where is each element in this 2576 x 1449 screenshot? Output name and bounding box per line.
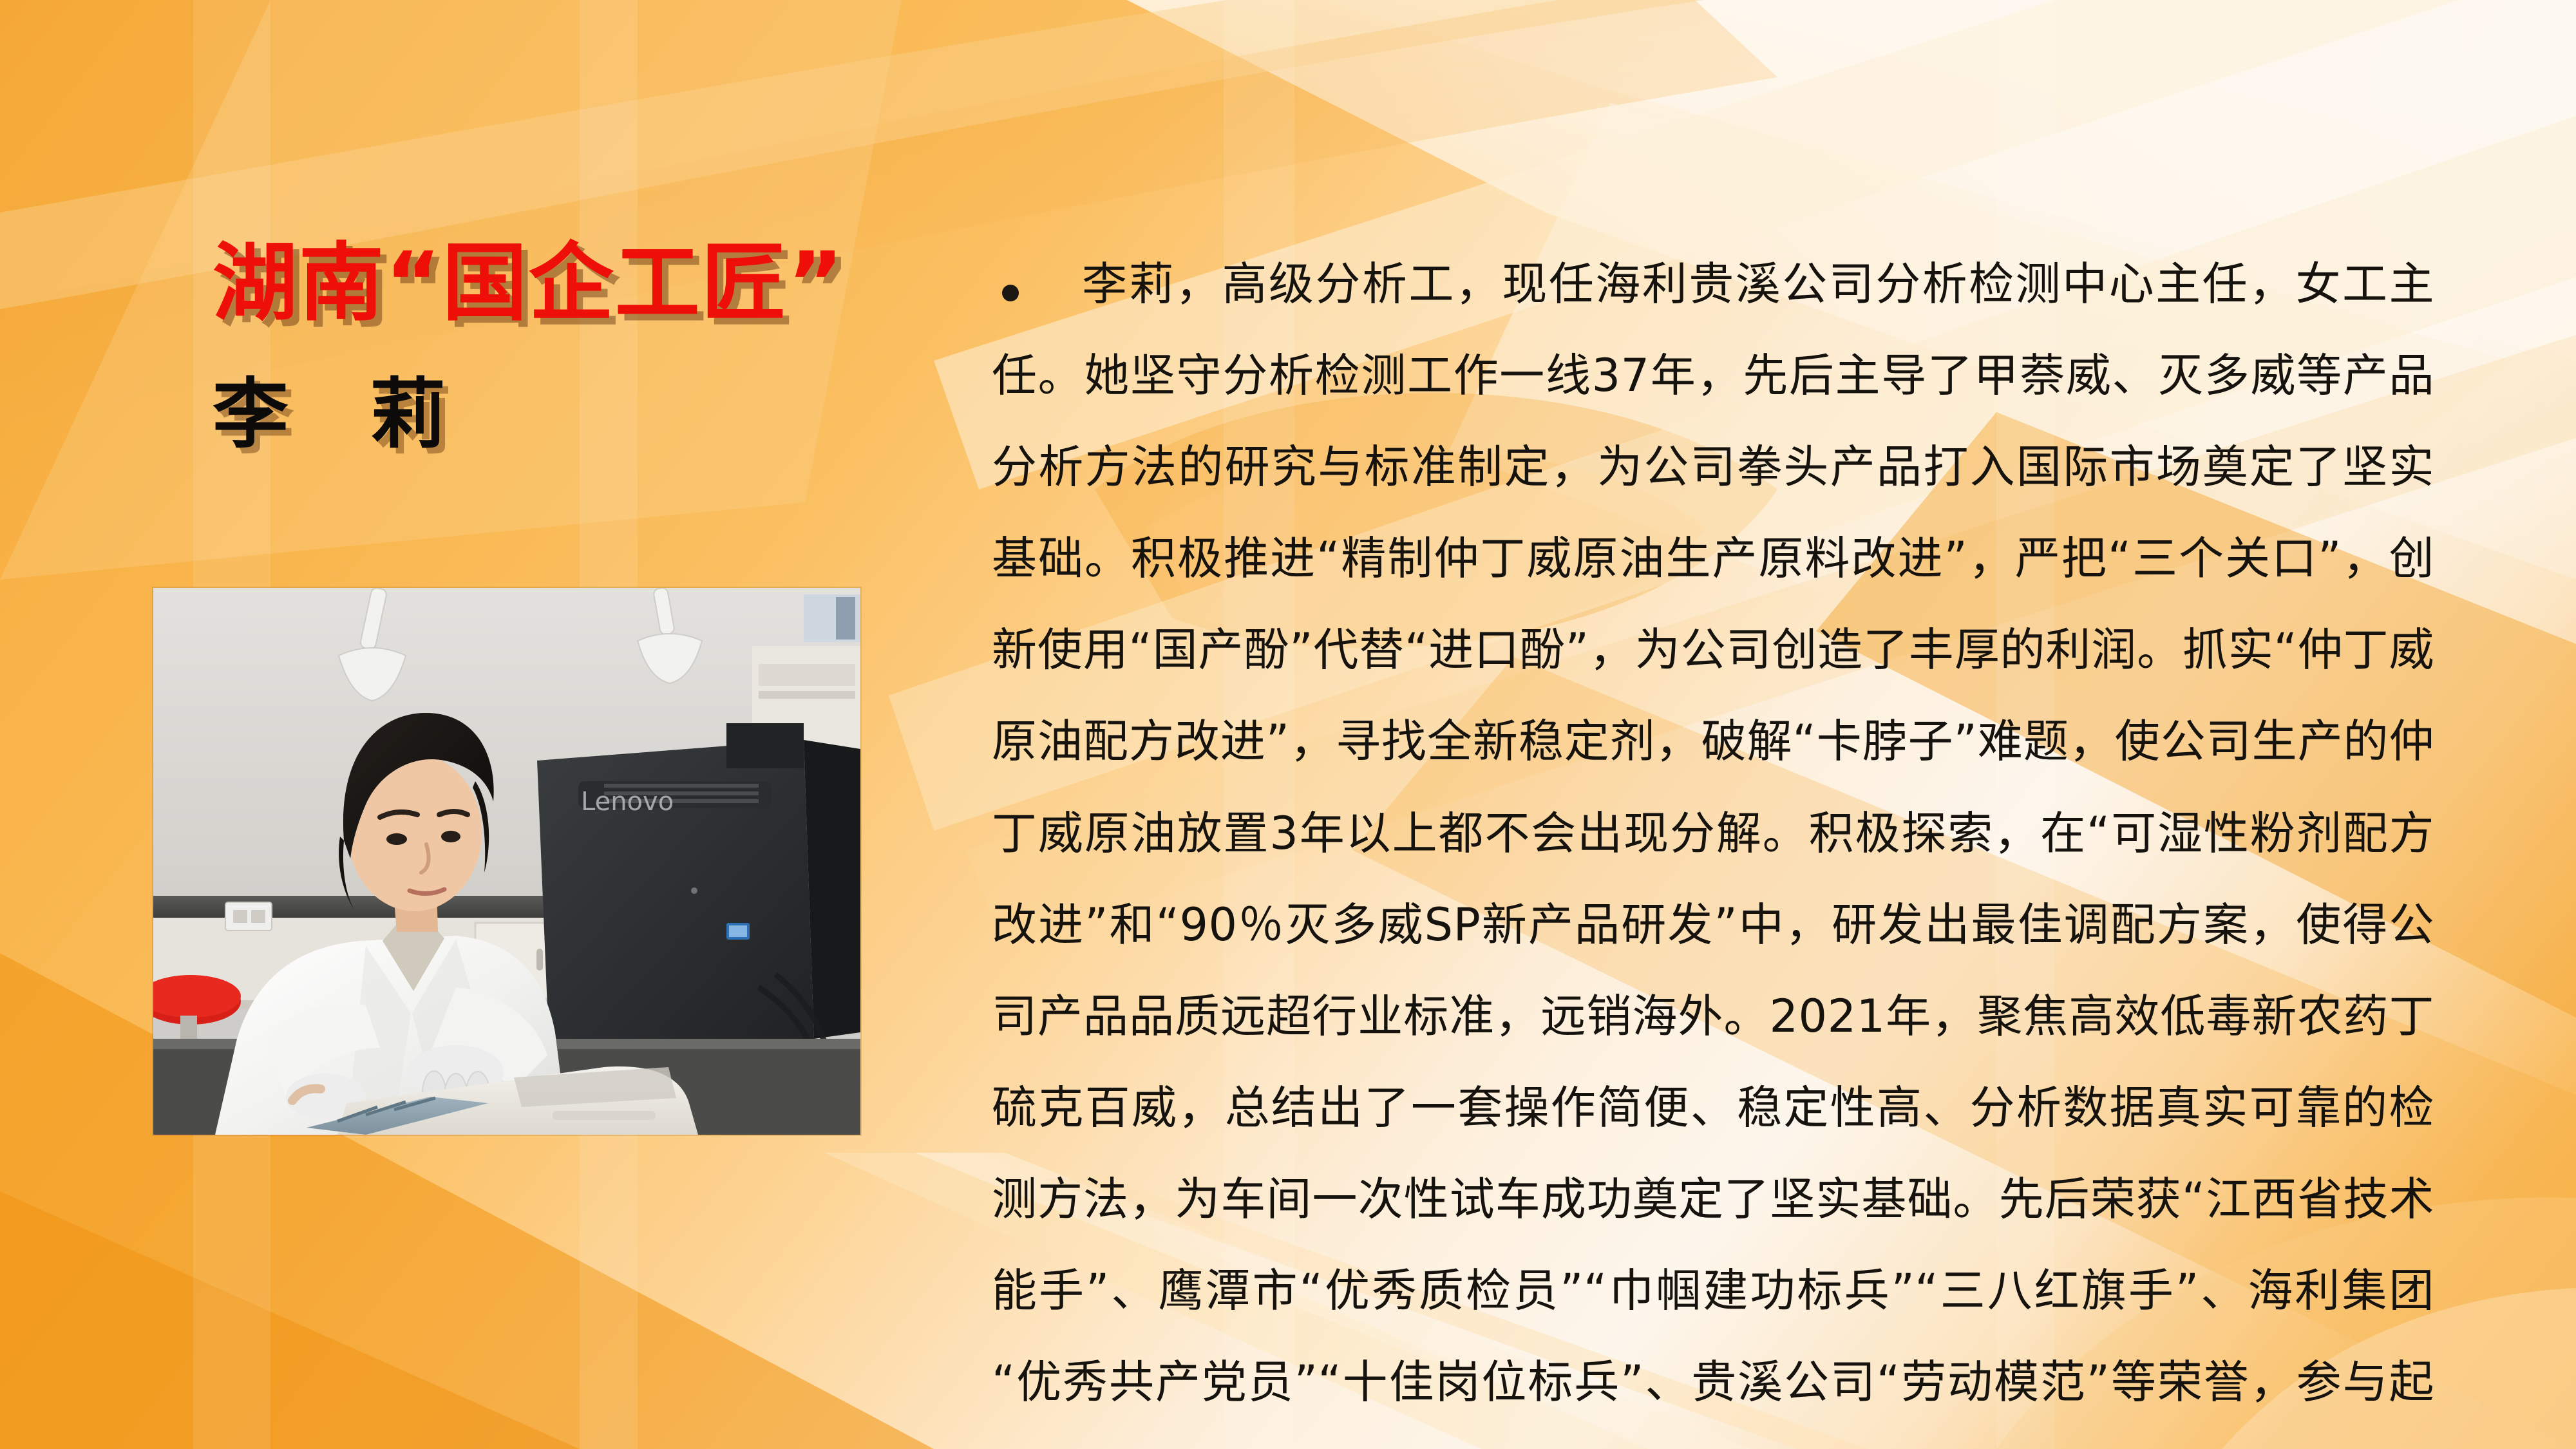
- portrait-photo: Lenovo: [153, 588, 860, 1135]
- lab-scene-svg: Lenovo: [153, 588, 860, 1135]
- biography-paragraph: 李莉，高级分析工，现任海利贵溪公司分析检测中心主任，女工主任。她坚守分析检测工作…: [992, 238, 2434, 1449]
- bullet-icon: [1002, 285, 1019, 301]
- bullet-row: 李莉，高级分析工，现任海利贵溪公司分析检测中心主任，女工主任。她坚守分析检测工作…: [992, 238, 2434, 1449]
- presentation-slide: 湖南“国企工匠” 李 莉: [0, 0, 2576, 1449]
- body-text-block: 李莉，高级分析工，现任海利贵溪公司分析检测中心主任，女工主任。她坚守分析检测工作…: [992, 193, 2434, 1449]
- page-title: 湖南“国企工匠”: [213, 232, 921, 336]
- portrait-photo-illustration: Lenovo: [153, 588, 860, 1135]
- svg-text:Lenovo: Lenovo: [581, 787, 674, 817]
- title-block: 湖南“国企工匠” 李 莉: [213, 232, 921, 460]
- person-name: 李 莉: [213, 369, 921, 460]
